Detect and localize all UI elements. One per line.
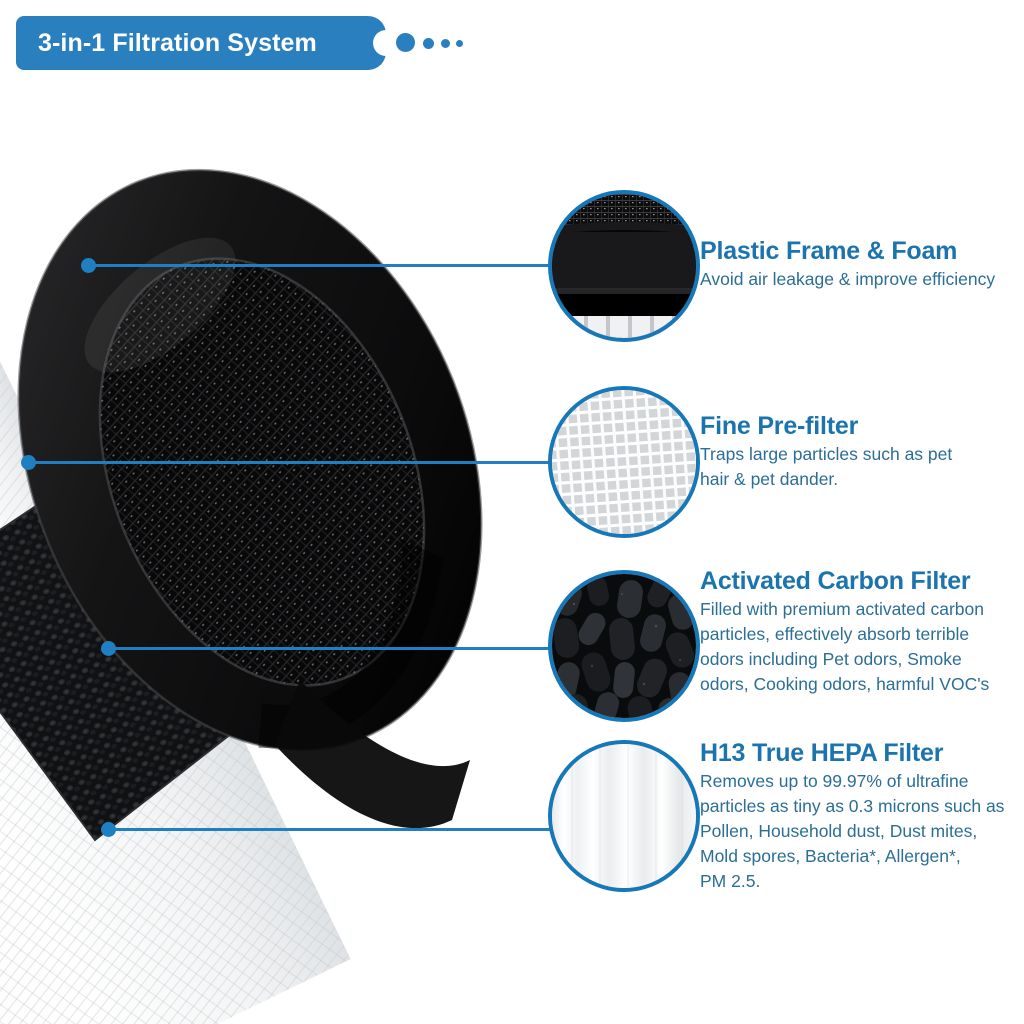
header-banner: 3-in-1 Filtration System xyxy=(16,16,386,70)
pre-filter-thumb xyxy=(552,390,696,534)
callout-line: odors including Pet odors, Smoke xyxy=(700,647,1024,672)
callout-line: hair & pet dander. xyxy=(700,467,1024,492)
banner-dot-4 xyxy=(456,40,463,47)
detail-circle-pre-filter xyxy=(548,386,700,538)
product-photo xyxy=(0,120,560,1024)
callout-fine-pre-filter: Fine Pre-filter Traps large particles su… xyxy=(700,411,1024,492)
detail-circle-hepa xyxy=(548,740,700,892)
callout-line: PM 2.5. xyxy=(700,869,1024,894)
callout-line: Filled with premium activated carbon xyxy=(700,597,1024,622)
connector-line-hepa xyxy=(108,828,566,831)
callout-body-plastic-frame: Avoid air leakage & improve efficiency xyxy=(700,267,1024,292)
callout-line: particles, effectively absorb terrible xyxy=(700,622,1024,647)
callout-activated-carbon-filter: Activated Carbon Filter Filled with prem… xyxy=(700,566,1024,697)
callout-line: Mold spores, Bacteria*, Allergen*, xyxy=(700,844,1024,869)
detail-circle-plastic-frame xyxy=(548,190,700,342)
callout-plastic-frame-foam: Plastic Frame & Foam Avoid air leakage &… xyxy=(700,236,1024,292)
banner-dot-3 xyxy=(441,39,450,48)
banner-title: 3-in-1 Filtration System xyxy=(38,16,368,70)
callout-title-plastic-frame: Plastic Frame & Foam xyxy=(700,236,1024,266)
connector-line-carbon xyxy=(108,647,566,650)
callout-line: particles as tiny as 0.3 microns such as xyxy=(700,794,1024,819)
connector-line-pre-filter xyxy=(28,461,566,464)
connector-line-plastic-frame xyxy=(88,264,566,267)
callout-title-hepa: H13 True HEPA Filter xyxy=(700,738,1024,768)
callout-body-hepa: Removes up to 99.97% of ultrafine partic… xyxy=(700,769,1024,894)
callout-body-activated-carbon: Filled with premium activated carbon par… xyxy=(700,597,1024,697)
callout-body-pre-filter: Traps large particles such as pet hair &… xyxy=(700,442,1024,492)
callout-line: Avoid air leakage & improve efficiency xyxy=(700,267,1024,292)
plastic-frame-thumb xyxy=(552,194,696,338)
infographic-canvas: 3-in-1 Filtration System xyxy=(0,0,1024,1024)
callout-line: Removes up to 99.97% of ultrafine xyxy=(700,769,1024,794)
banner-dot-1 xyxy=(396,33,415,52)
callout-title-pre-filter: Fine Pre-filter xyxy=(700,411,1024,441)
callout-line: odors, Cooking odors, harmful VOC's xyxy=(700,672,1024,697)
callout-line: Pollen, Household dust, Dust mites, xyxy=(700,819,1024,844)
callout-line: Traps large particles such as pet xyxy=(700,442,1024,467)
activated-carbon-thumb xyxy=(552,574,696,718)
callout-h13-true-hepa-filter: H13 True HEPA Filter Removes up to 99.97… xyxy=(700,738,1024,894)
hepa-thumb xyxy=(552,744,696,888)
banner-dot-2 xyxy=(423,38,434,49)
detail-circle-activated-carbon xyxy=(548,570,700,722)
filter-illustration xyxy=(0,120,560,1024)
callout-title-activated-carbon: Activated Carbon Filter xyxy=(700,566,1024,596)
